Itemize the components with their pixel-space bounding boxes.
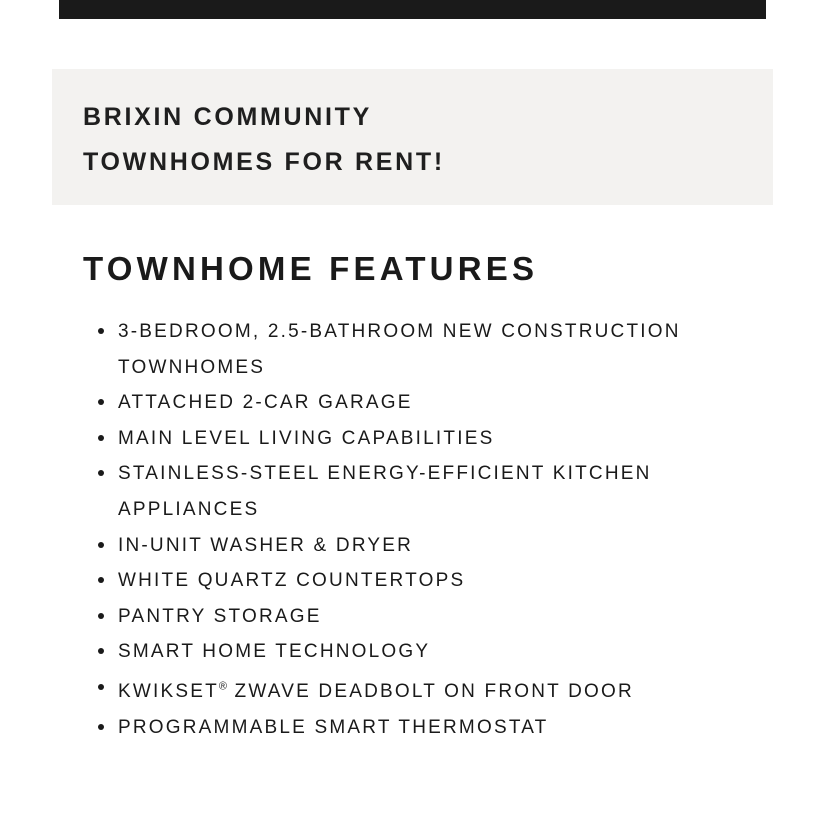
bullet-icon [98,435,104,441]
feature-list-item: PANTRY STORAGE [96,599,756,635]
feature-list-item: ATTACHED 2-CAR GARAGE [96,385,756,421]
bullet-icon [98,542,104,548]
bullet-icon [98,577,104,583]
features-list: 3-BEDROOM, 2.5-BATHROOM NEW CONSTRUCTION… [96,314,756,745]
feature-list-item: KWIKSET® ZWAVE DEADBOLT ON FRONT DOOR [96,670,756,710]
bullet-icon [98,328,104,334]
community-tagline-line: TOWNHOMES FOR RENT! [83,140,773,185]
bullet-icon [98,684,104,690]
bullet-icon [98,648,104,654]
feature-label: STAINLESS-STEEL ENERGY-EFFICIENT KITCHEN… [118,463,652,520]
bullet-icon [98,724,104,730]
feature-label: KWIKSET® ZWAVE DEADBOLT ON FRONT DOOR [118,681,634,702]
feature-label: PANTRY STORAGE [118,606,322,627]
feature-label: 3-BEDROOM, 2.5-BATHROOM NEW CONSTRUCTION… [118,321,681,378]
feature-label: MAIN LEVEL LIVING CAPABILITIES [118,428,494,449]
flyer-page: BRIXIN COMMUNITY TOWNHOMES FOR RENT! TOW… [0,0,825,825]
feature-label: ATTACHED 2-CAR GARAGE [118,392,413,413]
feature-label: IN-UNIT WASHER & DRYER [118,535,413,556]
feature-list-item: IN-UNIT WASHER & DRYER [96,528,756,564]
top-accent-bar [59,0,766,19]
feature-list-item: MAIN LEVEL LIVING CAPABILITIES [96,421,756,457]
feature-label-prefix: KWIKSET [118,681,219,702]
feature-list-item: SMART HOME TECHNOLOGY [96,634,756,670]
registered-trademark-icon: ® [219,681,227,693]
feature-label-suffix: ZWAVE DEADBOLT ON FRONT DOOR [227,681,634,702]
feature-label: PROGRAMMABLE SMART THERMOSTAT [118,717,548,738]
bullet-icon [98,399,104,405]
feature-label: WHITE QUARTZ COUNTERTOPS [118,570,465,591]
feature-list-item: WHITE QUARTZ COUNTERTOPS [96,563,756,599]
bullet-icon [98,613,104,619]
feature-list-item: 3-BEDROOM, 2.5-BATHROOM NEW CONSTRUCTION… [96,314,756,385]
community-name-line: BRIXIN COMMUNITY [83,95,773,140]
bullet-icon [98,470,104,476]
feature-list-item: STAINLESS-STEEL ENERGY-EFFICIENT KITCHEN… [96,456,756,527]
section-heading: TOWNHOME FEATURES [83,249,538,289]
feature-label: SMART HOME TECHNOLOGY [118,641,430,662]
feature-list-item: PROGRAMMABLE SMART THERMOSTAT [96,710,756,746]
title-panel: BRIXIN COMMUNITY TOWNHOMES FOR RENT! [52,69,773,205]
